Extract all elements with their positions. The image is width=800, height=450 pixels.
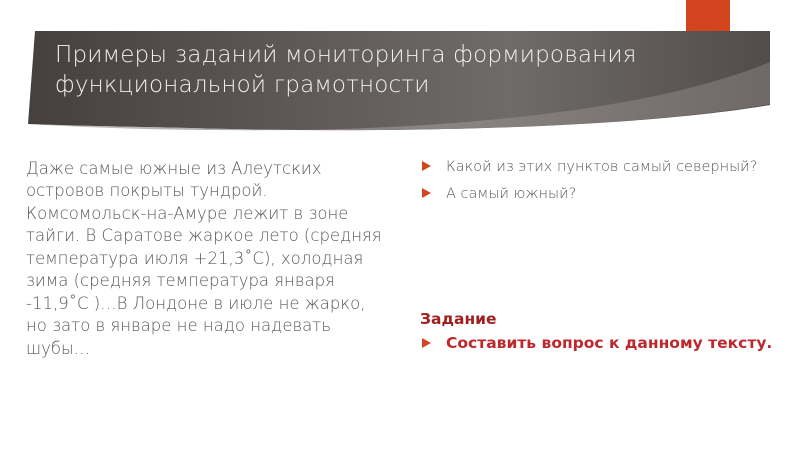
triangle-bullet-icon (422, 338, 431, 348)
list-item: Составить вопрос к данному тексту. (420, 334, 780, 354)
task-block: Задание Составить вопрос к данному текст… (420, 310, 780, 357)
triangle-bullet-icon (422, 188, 431, 198)
question-list: Какой из этих пунктов самый северный? А … (420, 158, 780, 203)
title-block: Примеры заданий мониторинга формирования… (55, 40, 675, 101)
page-title: Примеры заданий мониторинга формирования… (55, 40, 675, 101)
list-item: Какой из этих пунктов самый северный? (420, 158, 780, 176)
body-area: Даже самые южные из Алеутских островов п… (0, 150, 800, 450)
list-item: А самый южный? (420, 185, 780, 203)
triangle-bullet-icon (422, 161, 431, 171)
slide: Примеры заданий мониторинга формирования… (0, 0, 800, 450)
right-question-column: Какой из этих пунктов самый северный? А … (420, 158, 780, 212)
question-text: А самый южный? (446, 186, 576, 202)
left-text-column: Даже самые южные из Алеутских островов п… (26, 158, 391, 360)
source-text-paragraph: Даже самые южные из Алеутских островов п… (26, 158, 391, 360)
question-text: Какой из этих пунктов самый северный? (446, 159, 757, 175)
task-heading: Задание (420, 310, 780, 329)
orange-accent-rectangle (686, 0, 730, 78)
task-list: Составить вопрос к данному тексту. (420, 334, 780, 354)
task-text: Составить вопрос к данному тексту. (446, 334, 772, 352)
